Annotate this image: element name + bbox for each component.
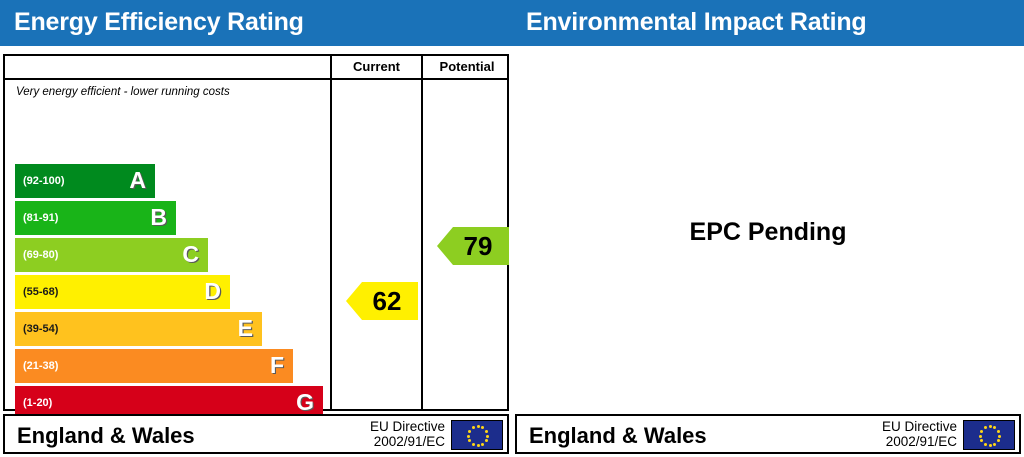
- page-title: Energy Efficiency Rating: [14, 8, 304, 37]
- eu-flag-star: [485, 439, 488, 442]
- eu-flag-star: [998, 435, 1001, 438]
- potential-rating-arrow: 79: [437, 227, 509, 265]
- band-range-label: (1-20): [23, 397, 52, 409]
- eu-flag-star: [989, 425, 992, 428]
- footer-region-label: England & Wales: [17, 423, 195, 449]
- eu-flag-icon-secondary: [963, 420, 1015, 450]
- rating-band-b: (81-91)B: [15, 201, 176, 235]
- band-letter-label: F: [270, 354, 284, 377]
- eu-flag-star: [979, 435, 982, 438]
- eu-flag-star: [984, 443, 987, 446]
- epc-pending-message: EPC Pending: [690, 218, 847, 247]
- footer-region-label-secondary: England & Wales: [529, 423, 707, 449]
- directive-line-2: 2002/91/EC: [370, 435, 445, 450]
- band-range-label: (55-68): [23, 286, 58, 298]
- column-divider-potential: [421, 56, 423, 409]
- directive-line-1: EU Directive: [370, 420, 445, 435]
- eu-flag-star: [980, 439, 983, 442]
- eu-flag-star: [485, 430, 488, 433]
- band-range-label: (81-91): [23, 212, 58, 224]
- current-rating-arrow: 62: [346, 282, 418, 320]
- eu-flag-star: [997, 439, 1000, 442]
- band-letter-label: C: [182, 243, 199, 266]
- band-letter-label: G: [296, 391, 314, 414]
- band-letter-label: A: [129, 169, 146, 192]
- footer-directive-secondary: EU Directive 2002/91/EC: [882, 420, 957, 449]
- directive-line-2: 2002/91/EC: [882, 435, 957, 450]
- eu-flag-star: [467, 435, 470, 438]
- eu-flag-star: [472, 443, 475, 446]
- column-header-current: Current: [332, 59, 421, 74]
- band-letter-label: E: [238, 317, 253, 340]
- eu-flag-star: [468, 439, 471, 442]
- caption-efficient: Very energy efficient - lower running co…: [16, 86, 230, 98]
- band-letter-label: D: [204, 280, 221, 303]
- column-divider-current: [330, 56, 332, 409]
- footer-directive: EU Directive 2002/91/EC: [370, 420, 445, 449]
- band-range-label: (21-38): [23, 360, 58, 372]
- eu-flag-star: [481, 426, 484, 429]
- eu-flag-star: [468, 430, 471, 433]
- eu-flag-star: [984, 426, 987, 429]
- directive-line-1: EU Directive: [882, 420, 957, 435]
- eu-flag-star: [472, 426, 475, 429]
- environmental-impact-title-bar: Environmental Impact Rating: [512, 0, 1024, 46]
- footer-left: England & Wales EU Directive 2002/91/EC: [3, 414, 509, 454]
- band-letter-label: B: [150, 206, 167, 229]
- energy-efficiency-panel: Energy Efficiency Rating Current Potenti…: [0, 0, 512, 457]
- environmental-impact-panel: Environmental Impact Rating EPC Pending …: [512, 0, 1024, 457]
- band-range-label: (92-100): [23, 175, 65, 187]
- eu-flag-star: [477, 444, 480, 447]
- eu-flag-star: [989, 444, 992, 447]
- eu-flag-star: [993, 426, 996, 429]
- eu-flag-star: [980, 430, 983, 433]
- eu-flag-star: [993, 443, 996, 446]
- rating-band-a: (92-100)A: [15, 164, 155, 198]
- energy-efficiency-chart: Current Potential Very energy efficient …: [3, 54, 509, 411]
- rating-band-c: (69-80)C: [15, 238, 208, 272]
- band-range-label: (39-54): [23, 323, 58, 335]
- eu-flag-star: [477, 425, 480, 428]
- rating-band-e: (39-54)E: [15, 312, 262, 346]
- epc-certificate: Energy Efficiency Rating Current Potenti…: [0, 0, 1024, 457]
- environmental-impact-chart: EPC Pending: [515, 54, 1021, 411]
- rating-band-d: (55-68)D: [15, 275, 230, 309]
- eu-flag-star: [481, 443, 484, 446]
- eu-flag-icon: [451, 420, 503, 450]
- energy-efficiency-title-bar: Energy Efficiency Rating: [0, 0, 512, 46]
- page-title-secondary: Environmental Impact Rating: [526, 8, 867, 37]
- footer-right: England & Wales EU Directive 2002/91/EC: [515, 414, 1021, 454]
- band-range-label: (69-80): [23, 249, 58, 261]
- rating-band-f: (21-38)F: [15, 349, 293, 383]
- column-header-potential: Potential: [423, 59, 511, 74]
- eu-flag-star: [486, 435, 489, 438]
- eu-flag-star: [997, 430, 1000, 433]
